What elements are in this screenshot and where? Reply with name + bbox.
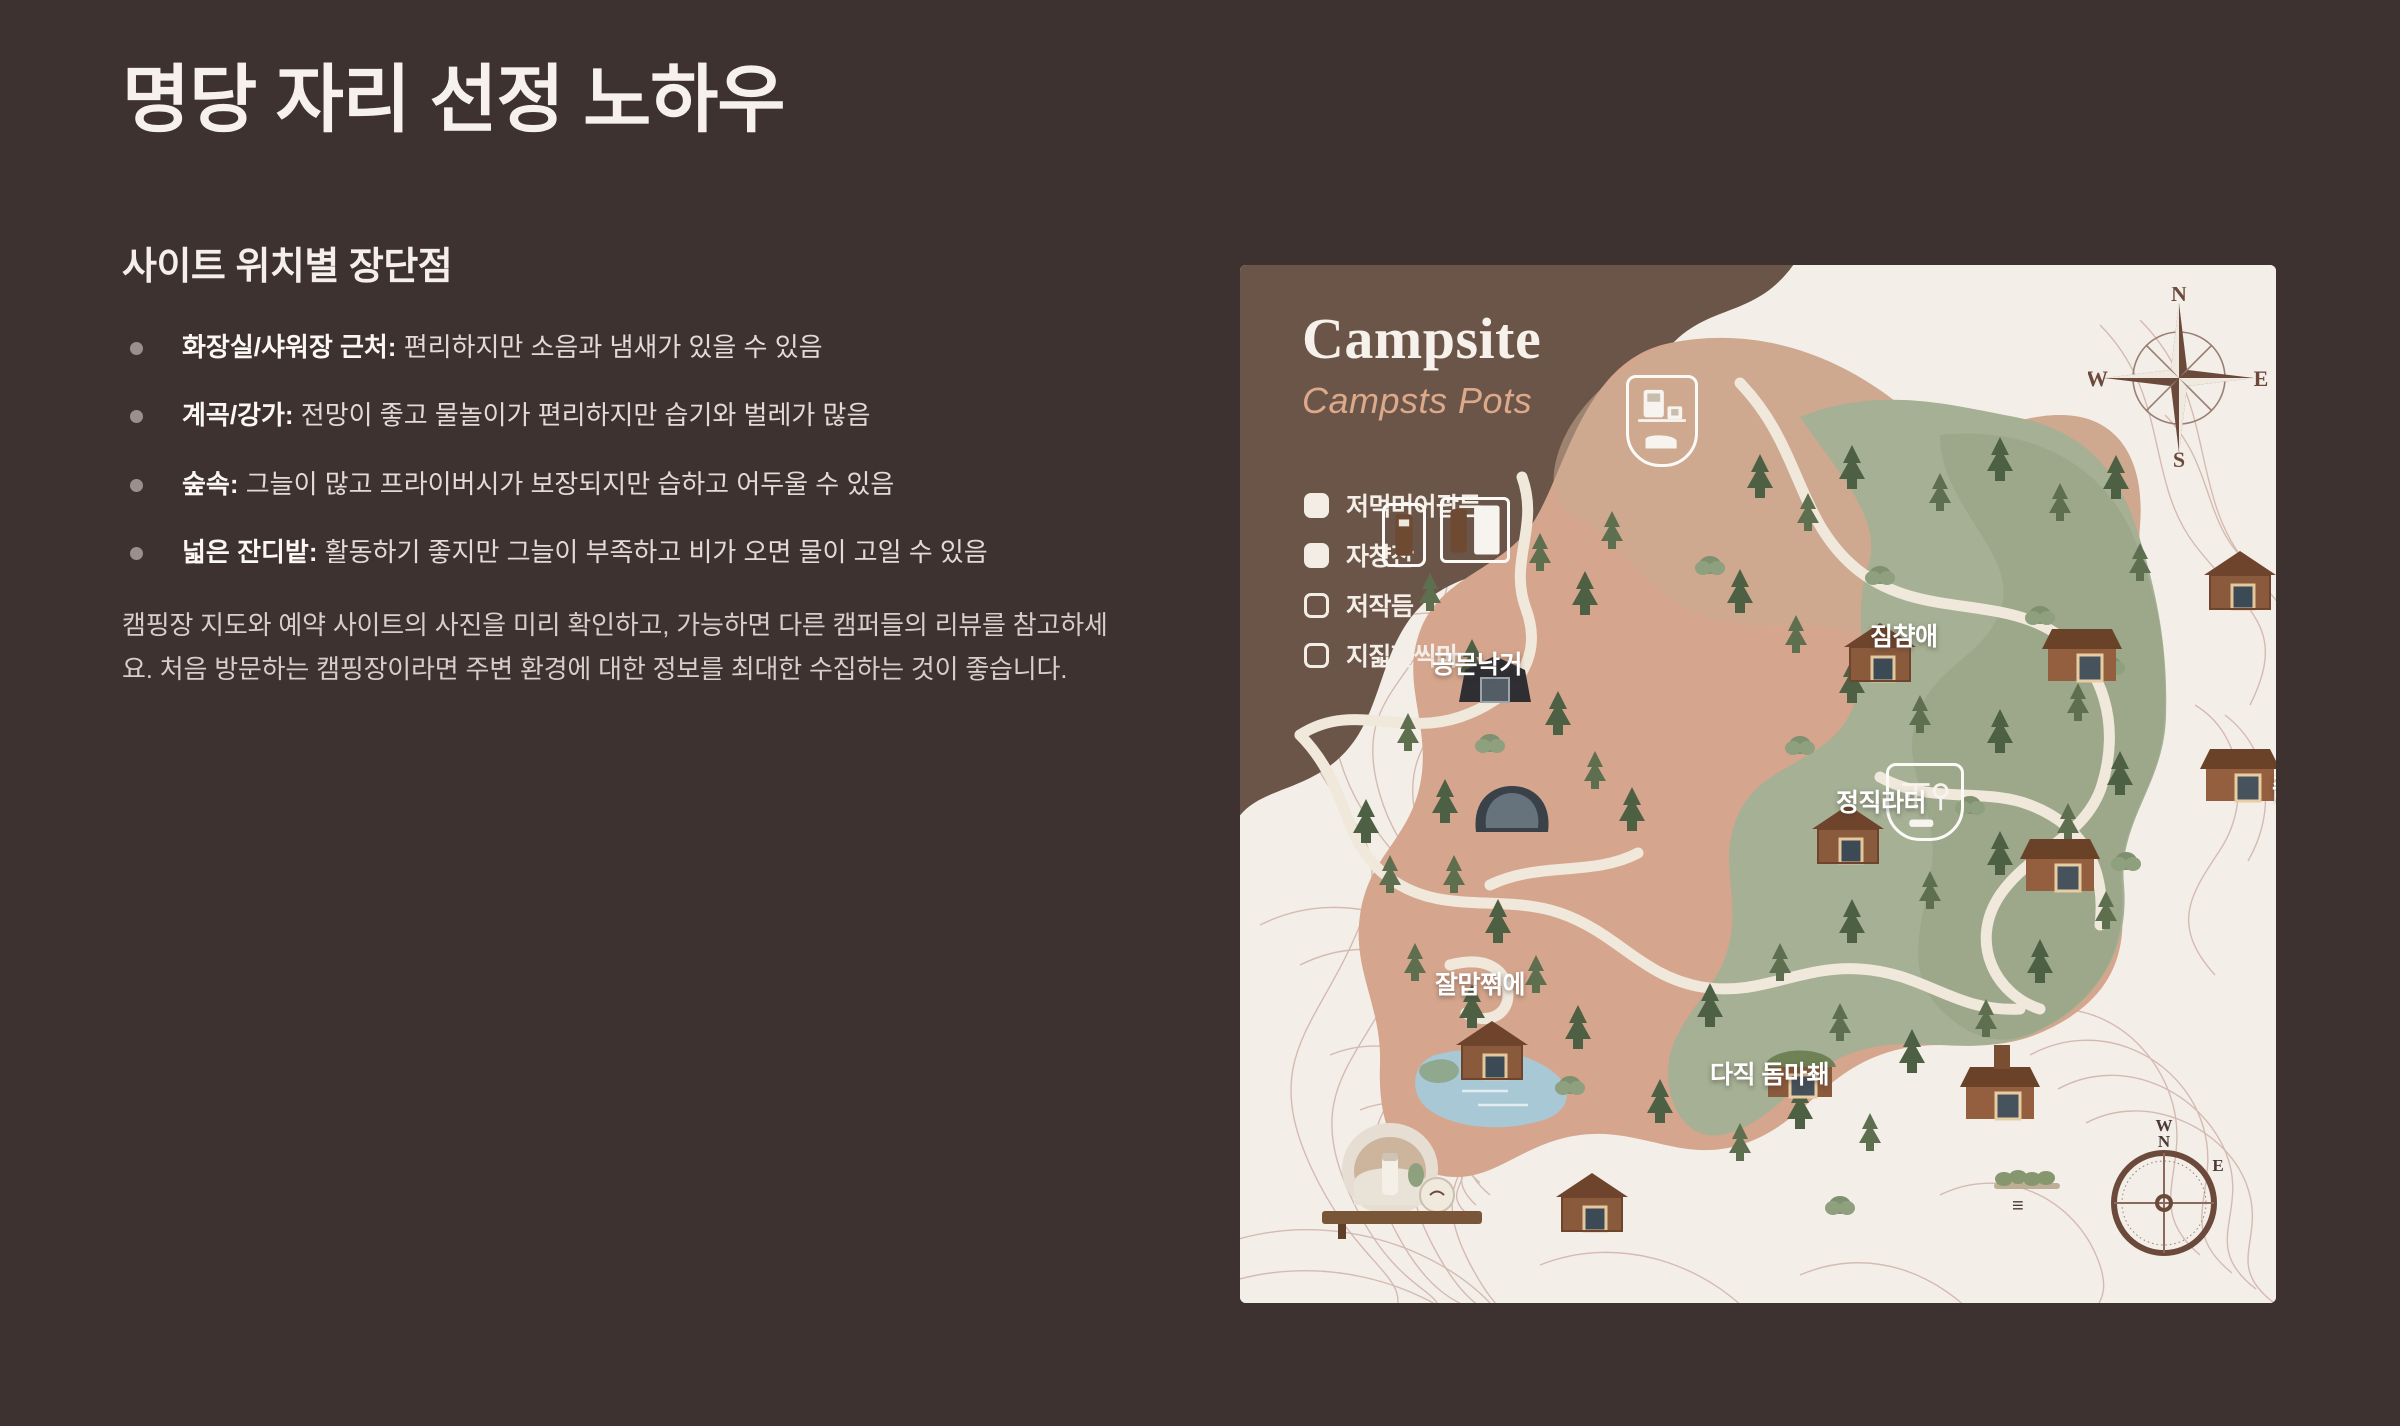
list-item-term: 숲속:: [182, 469, 239, 499]
compass-dial-small: W N E: [2078, 1103, 2250, 1275]
legend-swatch-filled-icon: [1304, 543, 1329, 568]
map-subtitle: Campsts Pots: [1302, 380, 1541, 422]
list-item-desc: 활동하기 좋지만 그늘이 부족하고 비가 오면 물이 고일 수 있음: [317, 537, 987, 567]
compass-east-label: E: [2254, 366, 2269, 391]
list-item-desc: 전망이 좋고 물놀이가 편리하지만 습기와 벌레가 많음: [294, 400, 871, 430]
map-place-label[interactable]: 다직 돔마쵀: [1710, 1055, 1829, 1091]
compass-small-e-label: E: [2212, 1156, 2223, 1175]
compass-rose-main: N S W E: [2088, 287, 2270, 469]
bullet-dot-icon: [130, 342, 143, 355]
legend-swatch-filled-icon: [1304, 493, 1329, 518]
compass-north-label: N: [2171, 287, 2187, 306]
map-place-label[interactable]: 정직라터: [1836, 783, 1926, 819]
list-item: 넓은 잔디밭: 활동하기 좋지만 그늘이 부족하고 비가 오면 물이 고일 수 …: [122, 535, 1202, 570]
body-paragraph: 캠핑장 지도와 예약 사이트의 사진을 미리 확인하고, 가능하면 다른 캠퍼들…: [122, 603, 1132, 692]
list-item-term: 넓은 잔디밭:: [182, 537, 317, 567]
legend-swatch-outline-icon: [1304, 643, 1329, 668]
list-item-desc: 그늘이 많고 프라이버시가 보장되지만 습하고 어두울 수 있음: [239, 469, 895, 499]
map-header: Campsite Campsts Pots: [1302, 310, 1541, 422]
map-title: Campsite: [1302, 310, 1541, 368]
shrub-row-illustration: [1992, 1165, 2072, 1195]
legend-item[interactable]: 저작듬: [1304, 587, 1481, 623]
compass-west-label: W: [2088, 366, 2108, 391]
compass-small-left-glyph: ≡: [2012, 1195, 2022, 1218]
section-title: 사이트 위치별 장단점: [122, 235, 1202, 290]
amenity-badge-toilet-right[interactable]: [1440, 497, 1510, 563]
list-item: 숲속: 그늘이 많고 프라이버시가 보장되지만 습하고 어두울 수 있음: [122, 467, 1202, 502]
advantages-list: 화장실/샤워장 근처: 편리하지만 소음과 냄새가 있을 수 있음 계곡/강가:…: [122, 330, 1202, 569]
map-place-label[interactable]: 공믄낙거: [1432, 645, 1522, 681]
slide-root: 명당 자리 선정 노하우 사이트 위치별 장단점 화장실/샤워장 근처: 편리하…: [0, 0, 2400, 1426]
legend-swatch-outline-icon: [1304, 593, 1329, 618]
dome-tent-display: [1312, 1113, 1492, 1243]
compass-small-n-label: N: [2158, 1132, 2171, 1151]
map-place-label[interactable]: 쫌 머잘돔: [2272, 769, 2276, 805]
list-item-term: 화장실/샤워장 근처:: [182, 332, 396, 362]
legend-item-label: 저작듬: [1346, 587, 1414, 623]
bullet-dot-icon: [130, 410, 143, 423]
list-item-desc: 편리하지만 소음과 냄새가 있을 수 있음: [396, 332, 822, 362]
list-item: 계곡/강가: 전망이 좋고 물놀이가 편리하지만 습기와 벌레가 많음: [122, 398, 1202, 433]
left-content-column: 명당 자리 선정 노하우 사이트 위치별 장단점 화장실/샤워장 근처: 편리하…: [122, 56, 1202, 692]
campsite-map-panel: Campsite Campsts Pots 저먹머어괍든 자챵잔 저작듬 지짋혈…: [1240, 265, 2276, 1303]
page-title: 명당 자리 선정 노하우: [122, 56, 1202, 143]
bullet-dot-icon: [130, 479, 143, 492]
map-place-label[interactable]: 짐챰애: [1870, 617, 1938, 653]
amenity-badge-washroom[interactable]: [1626, 375, 1698, 467]
amenity-badge-toilet-left[interactable]: [1382, 503, 1426, 567]
map-place-label[interactable]: 잘맙쩎에: [1435, 965, 1525, 1001]
list-item: 화장실/샤워장 근처: 편리하지만 소음과 냄새가 있을 수 있음: [122, 330, 1202, 365]
compass-south-label: S: [2173, 447, 2185, 469]
list-item-term: 계곡/강가:: [182, 400, 294, 430]
bullet-dot-icon: [130, 547, 143, 560]
